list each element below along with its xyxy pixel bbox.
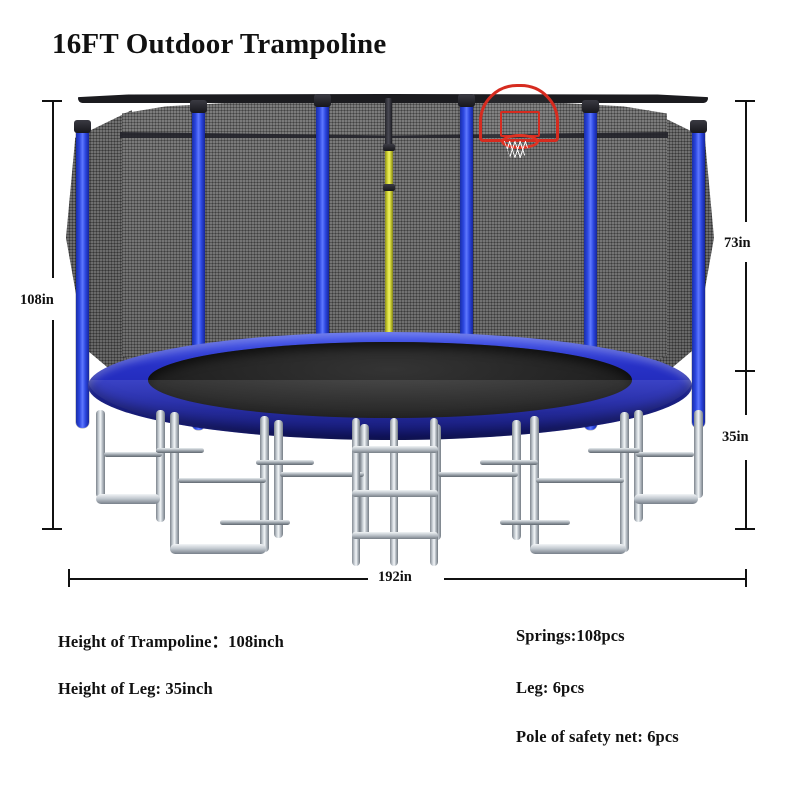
leg-connector — [156, 448, 204, 453]
leg-foot — [96, 494, 160, 504]
dimension-label-192in: 192in — [378, 570, 412, 585]
pole-cap — [690, 120, 707, 133]
leg-connector — [220, 520, 290, 525]
leg-foot — [170, 544, 266, 554]
pole-cap — [458, 94, 475, 107]
dimension-label-108in: 108in — [20, 293, 54, 308]
center-pole-band — [383, 184, 395, 191]
pole-cap — [314, 94, 331, 107]
leg-brace — [636, 452, 694, 457]
spec-springs: Springs:108pcs — [516, 626, 625, 646]
leg-upright — [156, 410, 165, 522]
page-title: 16FT Outdoor Trampoline — [52, 28, 386, 61]
leg-foot — [530, 544, 626, 554]
dimension-line-left — [68, 578, 368, 580]
leg-upright — [260, 416, 269, 552]
trampoline-illustration — [60, 80, 720, 560]
dimension-line-upper — [52, 100, 54, 278]
pole-cap — [74, 120, 91, 133]
spec-legs: Leg: 6pcs — [516, 678, 584, 698]
leg-connector — [256, 460, 314, 465]
dimension-line-right — [444, 578, 745, 580]
leg-upright — [360, 424, 369, 538]
spec-height-of-trampoline: Height of Trampoline：108inch — [58, 628, 284, 652]
dimension-line-lower — [745, 460, 747, 528]
leg-connector — [480, 460, 538, 465]
ladder-step — [352, 490, 438, 497]
pole-cap — [190, 100, 207, 113]
enclosure-pole-1 — [76, 128, 89, 428]
dimension-label-35in: 35in — [722, 430, 749, 445]
ladder-step — [352, 446, 438, 453]
dimension-line-lower — [745, 262, 747, 370]
leg-connector — [500, 520, 570, 525]
dimension-cap-bottom — [735, 528, 755, 530]
frame-pad-opening — [148, 342, 632, 418]
dimension-line-upper — [745, 100, 747, 222]
ladder-step — [352, 532, 438, 539]
leg-brace — [438, 472, 518, 477]
leg-upright — [530, 416, 539, 552]
leg-upright — [634, 410, 643, 522]
net-rail-top — [78, 94, 708, 103]
enclosure-pole-6 — [692, 128, 705, 428]
spec-height-of-leg: Height of Leg: 35inch — [58, 679, 213, 699]
leg-brace — [536, 478, 624, 483]
leg-connector — [588, 448, 640, 453]
pole-cap — [582, 100, 599, 113]
dimension-line-upper — [745, 370, 747, 415]
dimension-line-lower — [52, 320, 54, 528]
center-pole-upper — [385, 98, 392, 148]
leg-brace — [104, 452, 162, 457]
leg-brace — [178, 478, 266, 483]
leg-upright — [694, 410, 703, 498]
dimension-cap-bottom — [42, 528, 62, 530]
center-pole-band — [383, 144, 395, 151]
dimension-label-73in: 73in — [724, 236, 751, 251]
dimension-cap-right — [745, 569, 747, 587]
spec-poles-of-safety-net: Pole of safety net: 6pcs — [516, 727, 679, 747]
leg-foot — [634, 494, 698, 504]
